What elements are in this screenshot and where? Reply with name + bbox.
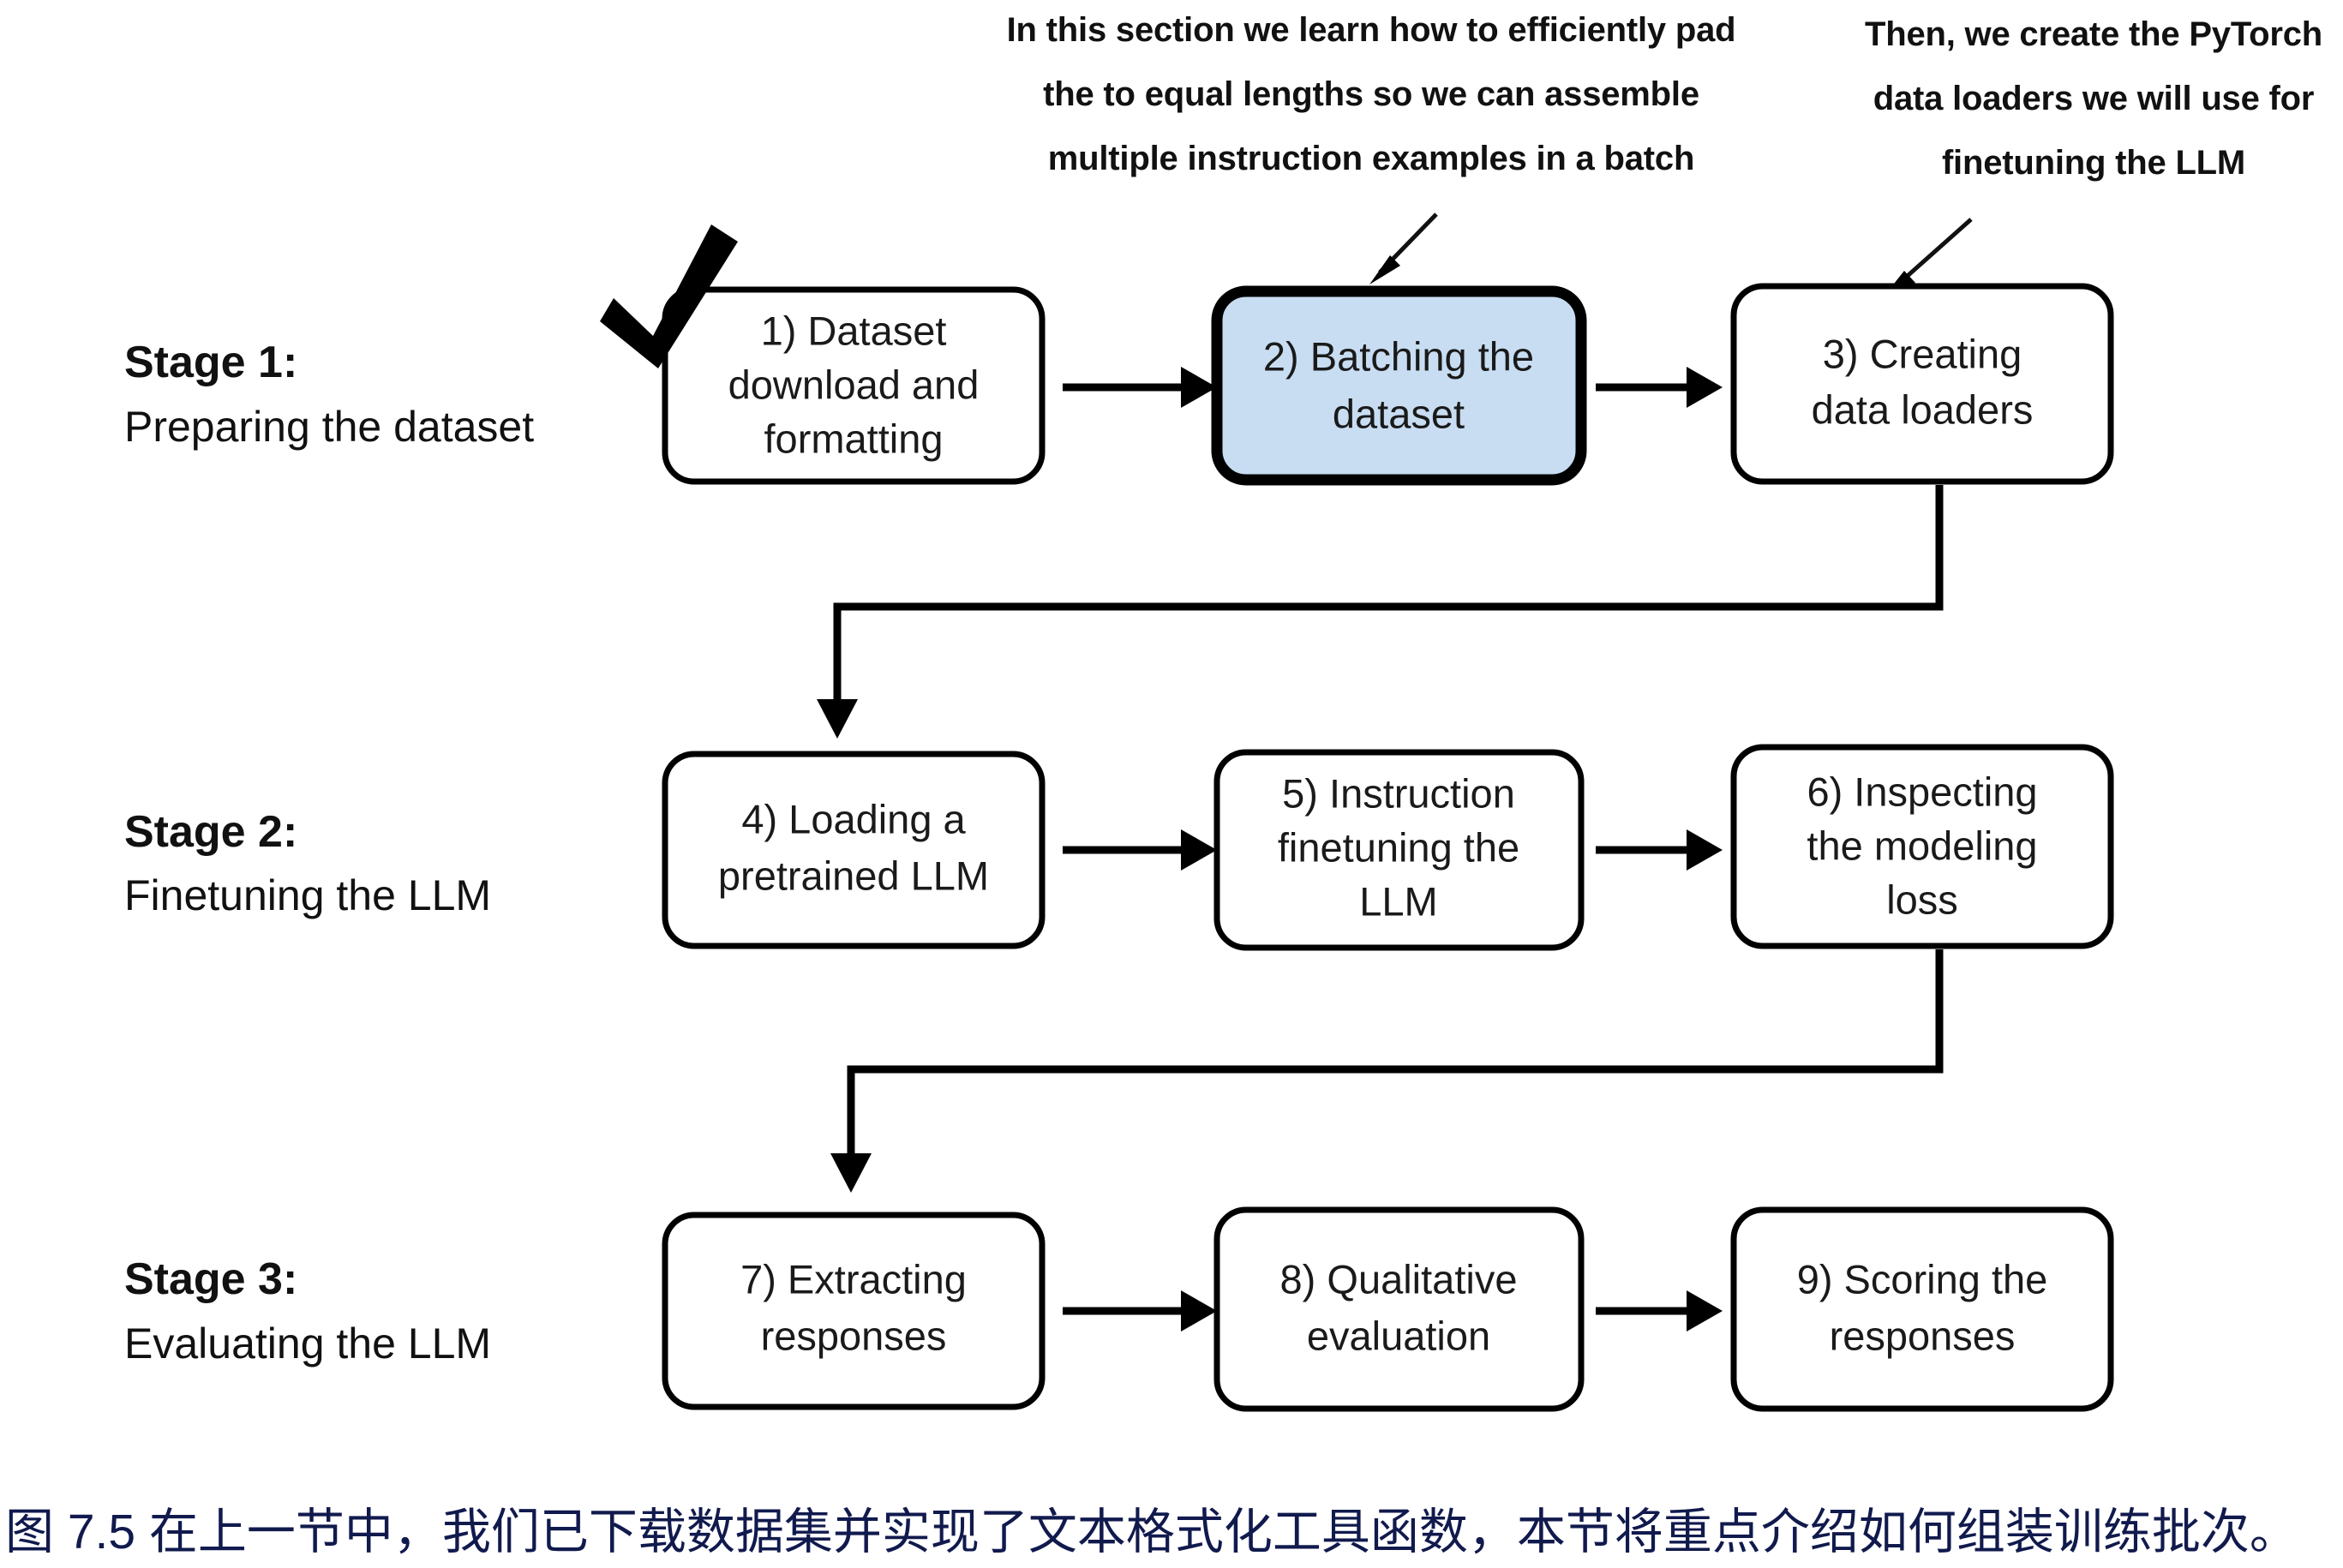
step-box-7-line-2: responses [761, 1313, 947, 1358]
step-box-8[interactable]: 8) Qualitative evaluation [1217, 1210, 1581, 1409]
arrow-step1-to-step2 [1063, 367, 1217, 408]
step-box-8-line-2: evaluation [1307, 1313, 1490, 1358]
step-box-4[interactable]: 4) Loading a pretrained LLM [665, 754, 1042, 946]
step-box-1-line-2: download and [728, 362, 980, 407]
step-box-2-line-2: dataset [1333, 391, 1465, 436]
step-box-6-line-2: the modeling [1807, 823, 2037, 868]
arrow-step8-to-step9 [1596, 1290, 1723, 1332]
stage-1-label: Stage 1: Preparing the dataset [124, 338, 534, 451]
step-box-8-rect[interactable] [1217, 1210, 1581, 1409]
step-box-2-rect[interactable] [1217, 291, 1581, 480]
connector-stage2-to-stage3 [830, 949, 1939, 1193]
flowchart-diagram: In this section we learn how to efficien… [0, 0, 2343, 1568]
step-box-8-line-1: 8) Qualitative [1280, 1256, 1518, 1302]
step-box-7-rect[interactable] [665, 1215, 1042, 1407]
step-box-9[interactable]: 9) Scoring the responses [1734, 1210, 2111, 1409]
step-box-7[interactable]: 7) Extracting responses [665, 1215, 1042, 1407]
step-box-3-rect[interactable] [1734, 286, 2111, 482]
arrow-step4-to-step5 [1063, 829, 1217, 871]
annotation-batching-line-3: multiple instruction examples in a batch [1048, 140, 1694, 177]
step-box-5-line-1: 5) Instruction [1282, 770, 1515, 816]
step-box-2[interactable]: 2) Batching the dataset [1217, 291, 1581, 480]
annotation-dataloaders-line-3: finetuning the LLM [1942, 144, 2245, 182]
stage-2-subtitle: Finetuning the LLM [124, 871, 491, 919]
connector-stage1-to-stage2 [817, 485, 1939, 739]
step-box-7-line-1: 7) Extracting [740, 1256, 967, 1302]
annotation-dataloaders-line-2: data loaders we will use for [1873, 80, 2315, 117]
stage-3-title: Stage 3: [124, 1254, 297, 1304]
step-box-4-line-2: pretrained LLM [718, 853, 989, 898]
annotation-dataloaders-line-1: Then, we create the PyTorch [1865, 15, 2322, 53]
step-box-5-line-2: finetuning the [1278, 824, 1519, 870]
step-box-6-line-1: 6) Inspecting [1807, 769, 2037, 814]
annotation-batching-arrow [1369, 214, 1436, 284]
arrow-step5-to-step6 [1596, 829, 1723, 871]
step-box-1-line-1: 1) Dataset [761, 308, 947, 353]
step-box-6-line-3: loss [1886, 877, 1958, 922]
stage-1-title: Stage 1: [124, 338, 297, 387]
step-box-3-line-2: data loaders [1812, 386, 2034, 432]
annotation-batching-line-2: the to equal lengths so we can assemble [1043, 75, 1699, 113]
arrow-step7-to-step8 [1063, 1290, 1217, 1332]
step-box-4-rect[interactable] [665, 754, 1042, 946]
step-box-9-line-1: 9) Scoring the [1797, 1256, 2048, 1302]
stage-3-label: Stage 3: Evaluating the LLM [124, 1254, 491, 1368]
step-box-1[interactable]: 1) Dataset download and formatting [665, 290, 1042, 482]
stage-3-subtitle: Evaluating the LLM [124, 1320, 491, 1368]
step-box-5-line-3: LLM [1359, 878, 1437, 924]
annotation-batching: In this section we learn how to efficien… [1007, 11, 1736, 284]
step-box-9-line-2: responses [1830, 1313, 2016, 1358]
step-box-1-line-3: formatting [764, 416, 944, 461]
step-box-3[interactable]: 3) Creating data loaders [1734, 286, 2111, 482]
stage-2-title: Stage 2: [124, 807, 297, 857]
step-box-3-line-1: 3) Creating [1823, 331, 2022, 376]
annotation-batching-line-1: In this section we learn how to efficien… [1007, 11, 1736, 49]
stage-1-subtitle: Preparing the dataset [124, 403, 534, 451]
figure-container: In this section we learn how to efficien… [0, 0, 2343, 1568]
step-box-4-line-1: 4) Loading a [741, 796, 966, 841]
step-box-6[interactable]: 6) Inspecting the modeling loss [1734, 747, 2111, 946]
annotation-dataloaders: Then, we create the PyTorch data loaders… [1865, 15, 2322, 300]
figure-caption: 图 7.5 在上一节中，我们已下载数据集并实现了文本格式化工具函数，本节将重点介… [5, 1493, 2340, 1563]
arrow-step2-to-step3 [1596, 367, 1723, 408]
stage-2-label: Stage 2: Finetuning the LLM [124, 807, 491, 919]
step-box-5[interactable]: 5) Instruction finetuning the LLM [1217, 752, 1581, 948]
step-box-2-line-1: 2) Batching the [1263, 333, 1534, 379]
step-box-9-rect[interactable] [1734, 1210, 2111, 1409]
